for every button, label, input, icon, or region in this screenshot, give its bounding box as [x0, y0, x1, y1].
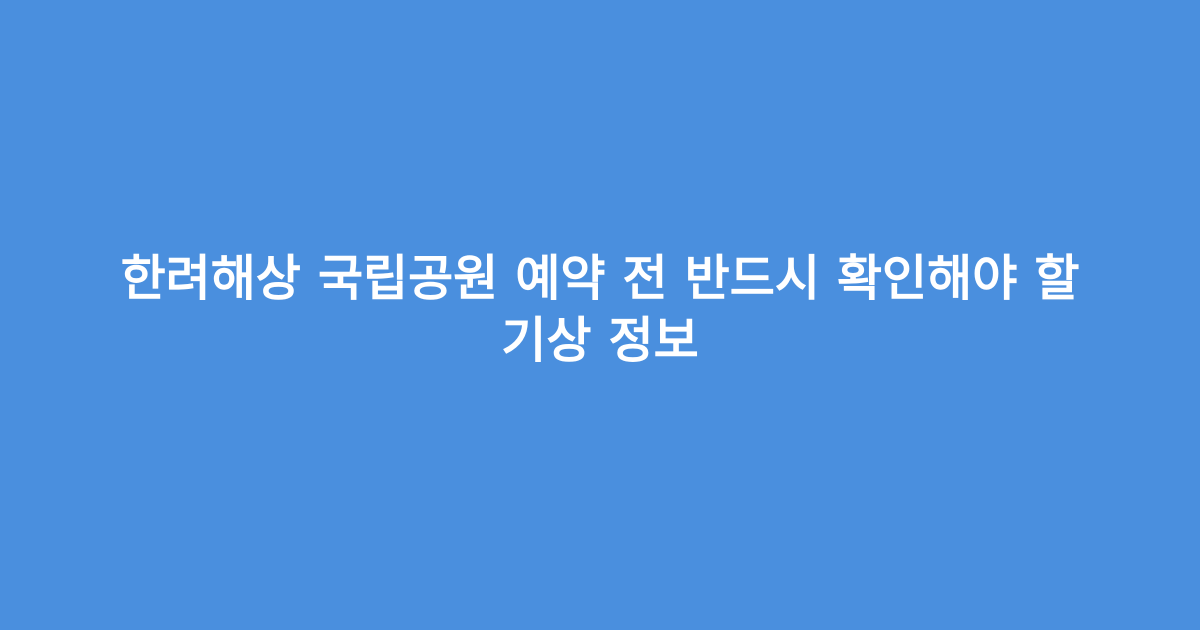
page-title: 한려해상 국립공원 예약 전 반드시 확인해야 할 기상 정보: [100, 248, 1100, 372]
thumbnail-card: 한려해상 국립공원 예약 전 반드시 확인해야 할 기상 정보: [0, 0, 1200, 630]
title-block: 한려해상 국립공원 예약 전 반드시 확인해야 할 기상 정보: [100, 248, 1100, 372]
